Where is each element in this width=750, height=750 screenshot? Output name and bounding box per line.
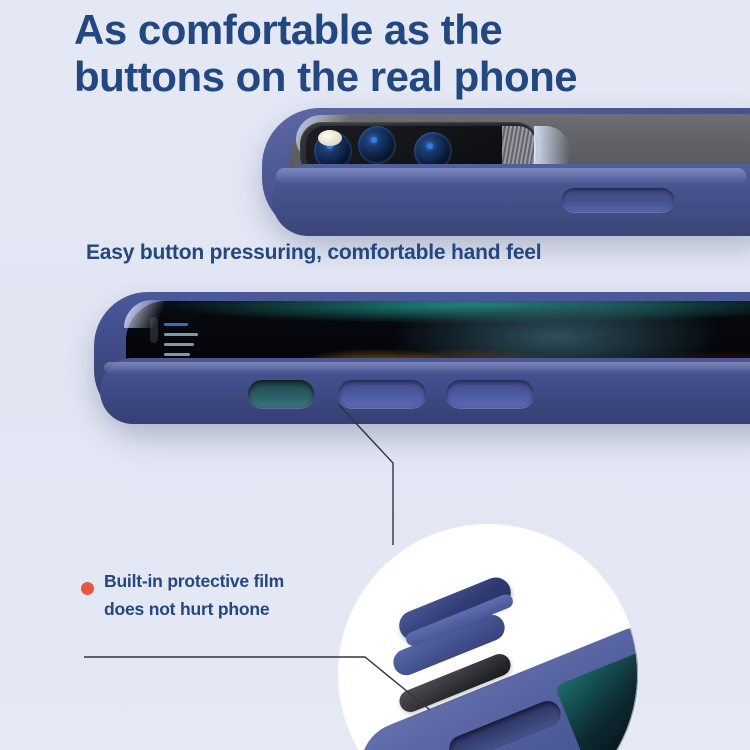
leader-line-to-circle bbox=[338, 404, 393, 545]
leader-lines bbox=[0, 0, 750, 750]
product-marketing-banner: As comfortable as the buttons on the rea… bbox=[0, 0, 750, 750]
leader-line-from-caption bbox=[84, 657, 430, 710]
